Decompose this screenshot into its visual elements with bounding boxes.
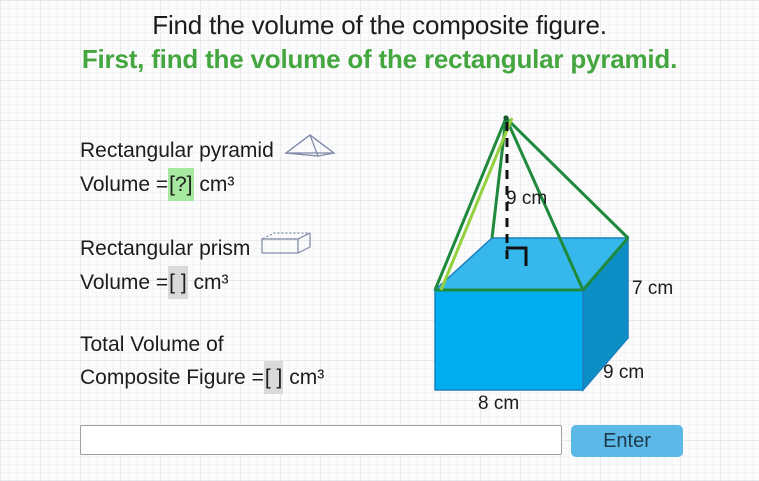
total-volume-blank[interactable]: [ ]	[264, 361, 284, 394]
total-volume-label-row: Total Volume of	[80, 328, 420, 361]
pyramid-volume-unit-text: cm³	[199, 168, 234, 201]
spacer-2	[80, 299, 420, 328]
prism-height-label: 7 cm	[632, 278, 673, 300]
pyramid-volume-row: Volume = [?] cm³	[80, 168, 420, 201]
composite-figure-diagram	[410, 100, 759, 420]
problem-canvas: Find the volume of the composite figure.…	[0, 0, 759, 481]
prism-label: Rectangular prism	[80, 232, 250, 265]
pyramid-height-label: 9 cm	[506, 188, 547, 210]
question-header: Find the volume of the composite figure.…	[0, 8, 759, 76]
spacer-1	[80, 201, 420, 230]
prism-volume-unit: cm³	[194, 266, 229, 299]
pyramid-wireframe-icon	[282, 133, 338, 169]
prism-label-row: Rectangular prism	[80, 230, 420, 266]
enter-button[interactable]: Enter	[571, 425, 683, 457]
prism-volume-blank[interactable]: [ ]	[168, 266, 188, 299]
total-volume-unit: cm³	[289, 361, 324, 394]
answer-input[interactable]	[80, 425, 562, 455]
total-volume-row: Composite Figure = [ ] cm³	[80, 361, 420, 394]
pyramid-edge-back-right	[506, 118, 628, 238]
answer-submit-row: Enter	[80, 425, 683, 457]
prism-width-label: 8 cm	[478, 393, 519, 415]
prism-volume-row: Volume = [ ] cm³	[80, 266, 420, 299]
prism-front-face	[435, 290, 583, 390]
question-prompt-step: First, find the volume of the rectangula…	[0, 42, 759, 76]
total-volume-label-line2: Composite Figure =	[80, 361, 264, 394]
prism-volume-prefix: Volume =	[80, 266, 168, 299]
pyramid-label-row: Rectangular pyramid	[80, 132, 420, 168]
pyramid-label: Rectangular pyramid	[80, 134, 274, 167]
answer-worksheet: Rectangular pyramid Volume = [?] cm³ Rec…	[80, 132, 420, 394]
pyramid-volume-blank[interactable]: [?]	[168, 168, 193, 201]
question-prompt-main: Find the volume of the composite figure.	[0, 8, 759, 42]
rectangular-prism-wireframe-icon	[258, 231, 314, 267]
prism-depth-label: 9 cm	[603, 362, 644, 384]
total-volume-label-line1: Total Volume of	[80, 328, 224, 361]
pyramid-volume-prefix: Volume =	[80, 168, 168, 201]
pyramid-apex-vertex	[503, 115, 508, 120]
